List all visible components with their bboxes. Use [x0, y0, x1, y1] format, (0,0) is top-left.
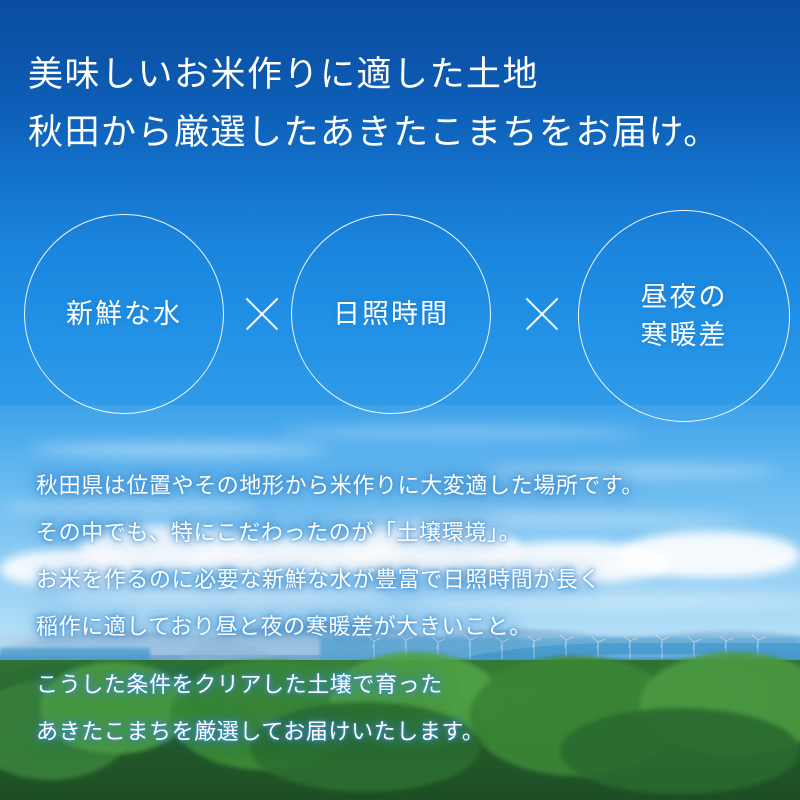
factor-label: 新鮮な水: [66, 295, 182, 333]
body-line: その中でも、特にこだわったのが「土壌環境」。: [36, 509, 776, 556]
body-line: あきたこまちを厳選してお届けいたします。: [36, 708, 776, 755]
body-line: 秋田県は位置やその地形から米作りに大変適した場所です。: [36, 462, 776, 509]
headline-line-1: 美味しいお米作りに適した土地: [28, 46, 778, 104]
banner-content: 美味しいお米作りに適した土地 秋田から厳選したあきたこまちをお届け。 新鮮な水 …: [0, 0, 800, 800]
multiply-icon: [240, 292, 284, 336]
factor-circle-fresh-water: 新鮮な水: [24, 214, 224, 414]
factor-label: 昼夜の 寒暖差: [641, 278, 728, 354]
body-line: 稲作に適しており昼と夜の寒暖差が大きいこと。: [36, 603, 776, 650]
key-factors-row: 新鮮な水 日照時間 昼夜の 寒暖差: [0, 214, 800, 420]
body-line: お米を作るのに必要な新鮮な水が豊富で日照時間が長く: [36, 556, 776, 603]
body-paragraph: 秋田県は位置やその地形から米作りに大変適した場所です。 その中でも、特にこだわっ…: [36, 462, 776, 755]
factor-label-line-2: 寒暖差: [641, 316, 728, 354]
body-line: こうした条件をクリアした土壌で育った: [36, 661, 776, 708]
factor-circle-temperature-difference: 昼夜の 寒暖差: [578, 210, 790, 422]
factor-circle-sunshine-hours: 日照時間: [291, 214, 491, 414]
factor-label: 日照時間: [333, 295, 449, 333]
headline: 美味しいお米作りに適した土地 秋田から厳選したあきたこまちをお届け。: [28, 46, 778, 162]
multiply-icon: [520, 292, 564, 336]
factor-label-line-1: 昼夜の: [641, 278, 728, 316]
headline-line-2: 秋田から厳選したあきたこまちをお届け。: [28, 104, 778, 162]
promo-banner: 美味しいお米作りに適した土地 秋田から厳選したあきたこまちをお届け。 新鮮な水 …: [0, 0, 800, 800]
